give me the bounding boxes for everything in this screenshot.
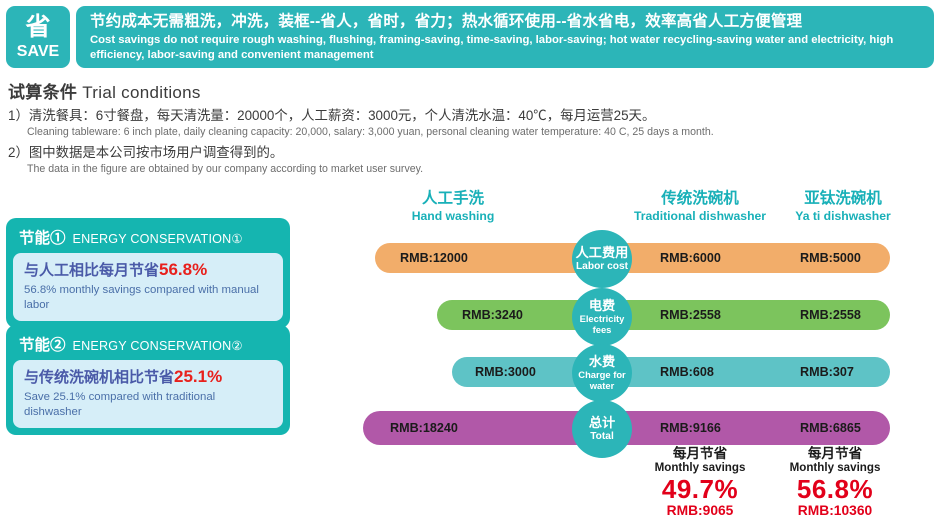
savings-label-en: Monthly savings [760,461,910,474]
cost-value-r4-c1: RMB:18240 [390,413,458,443]
column-header-1: 人工手洗Hand washing [353,190,553,223]
column-header-cn: 人工手洗 [353,190,553,208]
column-header-en: Hand washing [353,209,553,223]
row-badge-label-cn: 人工费用 [576,246,629,261]
cost-value-r4-c3: RMB:6865 [800,413,861,443]
cost-comparison-chart: 人工手洗Hand washing传统洗碗机Traditional dishwas… [0,0,940,518]
cost-value-r1-c1: RMB:12000 [400,243,468,273]
savings-amount: RMB:10360 [760,503,910,518]
column-header-cn: 亚钛洗碗机 [743,190,940,208]
savings-percent: 56.8% [760,475,910,504]
row-badge-1: 人工费用Labor cost [572,230,632,288]
cost-value-r1-c3: RMB:5000 [800,243,861,273]
row-badge-3: 水费Charge for water [572,344,632,402]
cost-value-r1-c2: RMB:6000 [660,243,721,273]
cost-value-r3-c3: RMB:307 [800,357,854,387]
savings-amount: RMB:9065 [625,503,775,518]
infographic-page: 省 SAVE 节约成本无需粗洗，冲洗，装框--省人，省时，省力；热水循环使用--… [0,0,940,518]
row-badge-2: 电费Electricity fees [572,288,632,346]
savings-label-en: Monthly savings [625,461,775,474]
savings-label-cn: 每月节省 [625,446,775,461]
cost-value-r3-c2: RMB:608 [660,357,714,387]
row-badge-label-cn: 水费 [589,355,615,370]
monthly-savings-block-1: 每月节省Monthly savings49.7%RMB:9065 [625,446,775,518]
savings-label-cn: 每月节省 [760,446,910,461]
column-header-3: 亚钛洗碗机Ya ti dishwasher [743,190,940,223]
column-header-en: Ya ti dishwasher [743,209,940,223]
row-badge-label-cn: 总计 [589,416,615,431]
cost-value-r2-c1: RMB:3240 [462,300,523,330]
cost-value-r2-c3: RMB:2558 [800,300,861,330]
monthly-savings-block-2: 每月节省Monthly savings56.8%RMB:10360 [760,446,910,518]
row-badge-4: 总计Total [572,400,632,458]
row-badge-label-cn: 电费 [589,299,615,314]
cost-value-r3-c1: RMB:3000 [475,357,536,387]
row-badge-label-en: Labor cost [576,261,628,272]
cost-value-r4-c2: RMB:9166 [660,413,721,443]
savings-percent: 49.7% [625,475,775,504]
row-badge-label-en: Total [590,431,614,442]
row-badge-label-en: Charge for water [572,370,632,391]
cost-value-r2-c2: RMB:2558 [660,300,721,330]
row-badge-label-en: Electricity fees [572,314,632,335]
